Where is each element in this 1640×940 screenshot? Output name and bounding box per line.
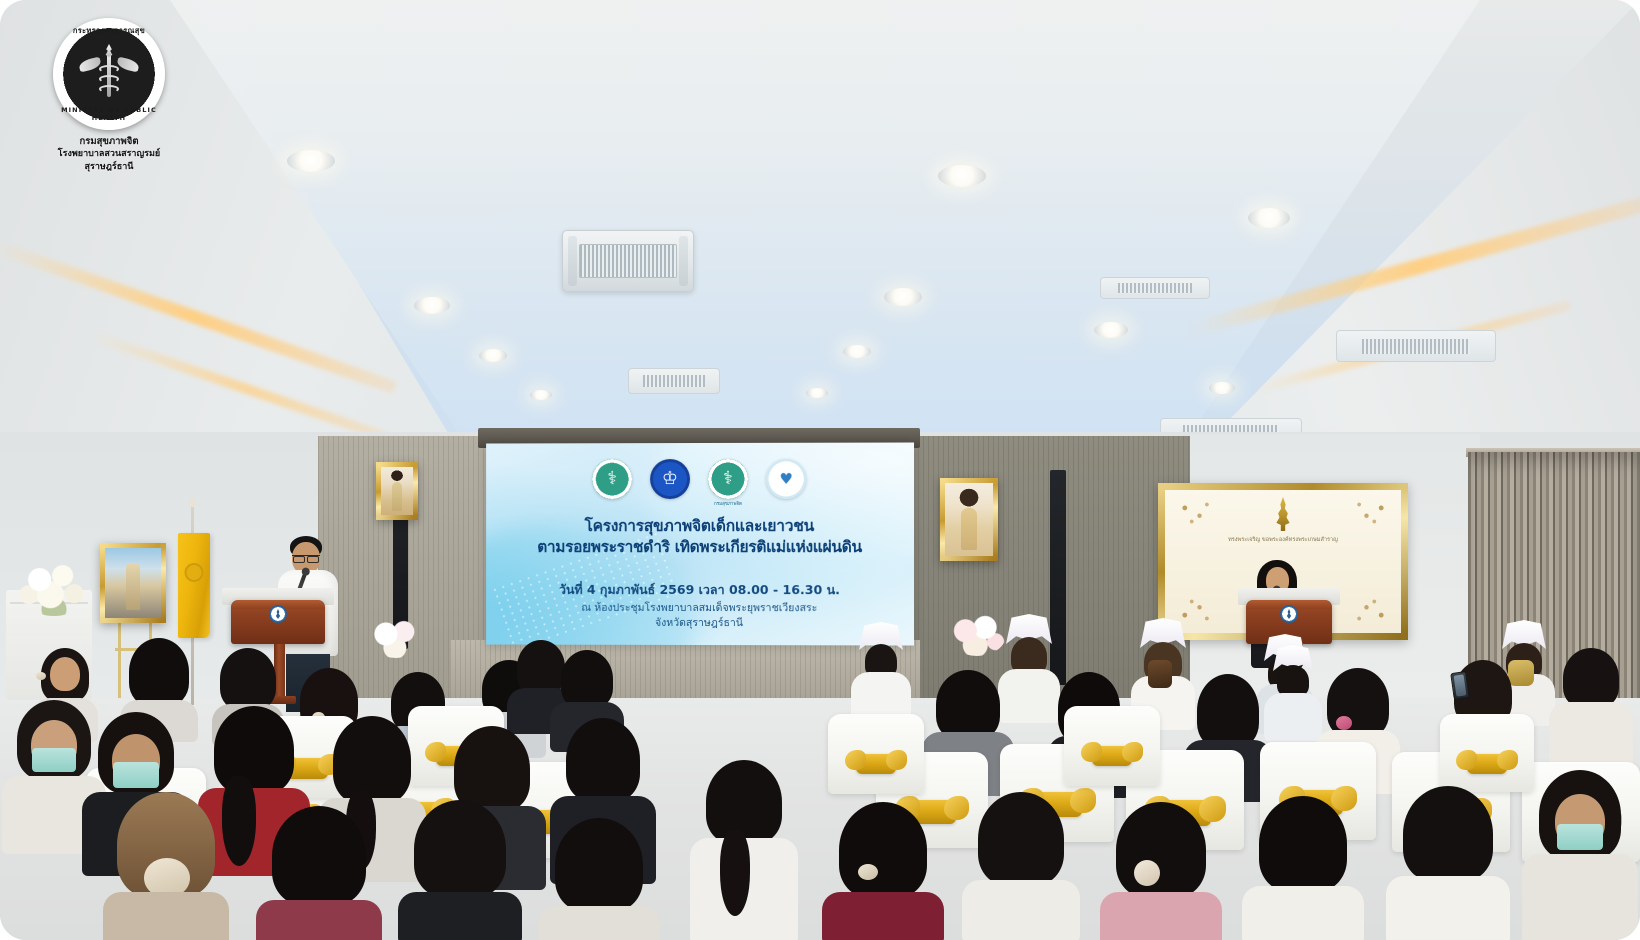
attendee-hair (1197, 674, 1259, 748)
chair[interactable] (1064, 706, 1160, 786)
snake-coil (99, 65, 119, 73)
snake-coil (99, 75, 119, 83)
ceiling-ac-vent (1100, 277, 1210, 299)
chair-sash (1467, 754, 1507, 774)
hair-clip (858, 864, 878, 880)
attendee-hair (936, 670, 1000, 740)
department-of-mental-health-logo: ⚕ กรมสุขภาพจิต (707, 459, 748, 507)
chair-sash (1092, 746, 1132, 766)
attendee-torso (103, 892, 229, 940)
attendee-hair (978, 792, 1064, 886)
watermark-caption: กรมสุขภาพจิต โรงพยาบาลสวนสราญรมย์ สุราษฎ… (58, 135, 160, 174)
attendee-torso (822, 892, 944, 940)
chair-sash (856, 754, 896, 774)
attendee-hair (414, 800, 506, 898)
hair-scrunchie (1134, 860, 1160, 886)
downlight (938, 165, 986, 187)
moph-seal-icon: กระทรวงสาธารณสุข MINISTRY OF PUBLIC HEAL… (53, 18, 165, 130)
downlight (530, 390, 552, 400)
crown-icon: ♔ (662, 470, 678, 488)
chair[interactable] (828, 714, 924, 794)
royal-crest-disc: ♔ (650, 459, 690, 499)
ministry-of-public-health-watermark: กระทรวงสาธารณสุข MINISTRY OF PUBLIC HEAL… (24, 18, 194, 188)
royal-portrait-image (945, 483, 993, 556)
attendee-torso (1242, 886, 1364, 940)
plaque-corner-ornament (1349, 593, 1395, 627)
attendee-ponytail (720, 830, 750, 916)
moph-logo: ⚕ (592, 459, 633, 500)
projection-screen: ⚕ ♔ ⚕ กรมสุขภาพจิต ♥ โครงการสุขภาพจิตเด็… (486, 442, 914, 645)
hair-clip (1336, 716, 1352, 730)
attendee-torso (962, 880, 1080, 940)
screen-venue-line2: จังหวัดสุราษฎร์ธานี (494, 616, 906, 632)
attendee (1520, 770, 1640, 940)
attendee-hair (333, 716, 411, 804)
watermark-caption-line3: สุราษฎร์ธานี (58, 161, 160, 174)
attendee-torso (256, 900, 382, 940)
screen-date-line: วันที่ 4 กุมภาพันธ์ 2569 เวลา 08.00 - 16… (494, 581, 906, 600)
screen-logo-row: ⚕ ♔ ⚕ กรมสุขภาพจิต ♥ (486, 459, 914, 508)
wing-right (116, 57, 140, 73)
face-mask (32, 748, 76, 772)
attendee-hair (1259, 796, 1347, 892)
attendee (1240, 796, 1366, 940)
attendee-hair (214, 706, 294, 794)
ceiling (0, 0, 1640, 470)
attendee-hair (220, 648, 276, 710)
attendee-hair (1327, 668, 1389, 738)
conference-photograph: ⚕ ♔ ⚕ กรมสุขภาพจิต ♥ โครงการสุขภาพจิตเด็… (0, 0, 1640, 940)
royal-emblem-icon (1272, 497, 1294, 531)
attendee (254, 806, 384, 940)
caduceus-icon: ⚕ (723, 470, 733, 488)
downlight (1094, 322, 1128, 338)
attendee-head (50, 657, 80, 691)
royal-portrait-frame-easel (100, 543, 166, 623)
attendee-torso (1386, 876, 1510, 940)
ceiling-ac-cassette (628, 368, 720, 394)
attendee (1098, 802, 1224, 940)
attendee (1384, 786, 1512, 940)
downlight (806, 388, 828, 398)
ac-grille (579, 244, 678, 278)
attendee-hair (561, 650, 613, 708)
attendee (820, 802, 946, 940)
hair-clip (36, 672, 46, 680)
ac-grille (1118, 283, 1191, 293)
attendee-torso (538, 906, 660, 940)
royal-crest-logo: ♔ (650, 459, 691, 500)
flower-bouquet (368, 618, 424, 658)
attendee (1548, 648, 1634, 768)
ac-vane-right (679, 236, 688, 286)
caduceus-icon: ⚕ (607, 470, 617, 488)
attendee-torso (1549, 702, 1633, 770)
ceiling-ac-cassette (562, 230, 694, 292)
downlight (1248, 208, 1290, 228)
caduceus-icon (82, 47, 136, 101)
screen-title: โครงการสุขภาพจิตเด็กและเยาวชน ตามรอยพระร… (496, 516, 904, 557)
snake-coil (99, 85, 119, 93)
downlight (414, 297, 450, 314)
screen-venue-line1: ณ ห้องประชุมโรงพยาบาลสมเด็จพระยุพราชเวีย… (494, 601, 906, 617)
attendee-hair (706, 760, 782, 844)
child-logo-disc: ♥ (766, 459, 806, 499)
eyeglasses-icon (292, 555, 320, 561)
attendee (396, 800, 524, 940)
attendee (688, 760, 800, 940)
downlight (1209, 382, 1235, 394)
attendee-hair (1116, 802, 1206, 898)
attendee (100, 792, 232, 940)
face-mask (1557, 824, 1603, 850)
attendee-hair (839, 802, 927, 898)
attendee-hair (1403, 786, 1493, 882)
attendee-hair (566, 718, 640, 802)
flower-bouquet (18, 560, 90, 616)
flame (104, 44, 114, 57)
royal-portrait-image (381, 467, 413, 515)
royal-portrait-image (105, 548, 161, 618)
downlight (843, 345, 871, 358)
family-heart-icon: ♥ (779, 471, 793, 486)
ceiling-ac-vent (1336, 330, 1496, 362)
dmh-logo-disc: ⚕ (708, 459, 748, 499)
watermark-caption-line1: กรมสุขภาพจิต (58, 135, 160, 148)
attendee-torso (1522, 854, 1638, 940)
attendee (536, 818, 662, 940)
attendee-torso (1100, 892, 1222, 940)
face-mask (113, 762, 159, 788)
ac-vane-left (568, 236, 577, 286)
attendee-hair (555, 818, 643, 912)
royal-yellow-flag (178, 533, 210, 638)
attendee-nurse (848, 622, 914, 726)
podium-crest-icon (269, 605, 287, 623)
attendee-hair (1563, 648, 1619, 708)
seal-top-text: กระทรวงสาธารณสุข (55, 25, 163, 37)
dmh-logo-caption: กรมสุขภาพจิต (714, 500, 742, 507)
screen-subtitle: วันที่ 4 กุมภาพันธ์ 2569 เวลา 08.00 - 16… (494, 581, 906, 632)
attendee-hair (129, 638, 189, 706)
royal-portrait-frame-right (940, 478, 998, 561)
plaque-text: ทรงพระเจริญ ขอพระองค์ทรงพระเกษมสำราญ (1181, 535, 1385, 546)
royal-portrait-frame-left (376, 462, 418, 520)
watermark-caption-line2: โรงพยาบาลสวนสราญรมย์ (58, 148, 160, 161)
child-youth-mental-health-logo: ♥ (766, 459, 807, 500)
attendee (960, 792, 1082, 940)
plaque-corner-ornament (1171, 496, 1217, 530)
plaque-corner-ornament (1349, 496, 1395, 530)
attendee-torso (398, 892, 522, 940)
attendee-hair (272, 806, 366, 906)
downlight (479, 349, 507, 362)
podium-crest-icon (1280, 605, 1298, 623)
moph-logo-disc: ⚕ (592, 459, 632, 499)
seal-bottom-text: MINISTRY OF PUBLIC HEALTH (55, 106, 163, 122)
flag-emblem-icon (185, 563, 204, 582)
ac-grille (1362, 339, 1469, 354)
downlight (287, 150, 335, 172)
hair-ribbon (1148, 660, 1172, 688)
screen-title-line2: ตามรอยพระราชดำริ เทิดพระเกียรติแม่แห่งแผ… (496, 537, 904, 557)
downlight (884, 288, 922, 306)
ac-grille (643, 375, 704, 387)
screen-title-line1: โครงการสุขภาพจิตเด็กและเยาวชน (496, 516, 904, 536)
